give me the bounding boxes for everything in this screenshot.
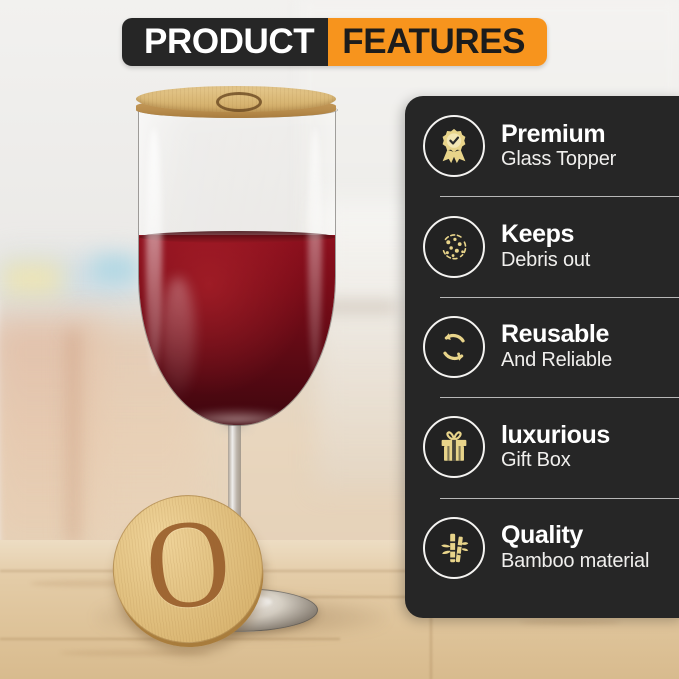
feature-text-quality: Quality Bamboo material <box>501 522 649 573</box>
wine-bottom-glow <box>167 407 307 423</box>
feature-text-premium: Premium Glass Topper <box>501 121 616 172</box>
wine-surface <box>139 231 335 243</box>
coaster-engraved-letter: O <box>140 499 234 632</box>
glass-bowl <box>138 106 336 426</box>
banner-orange-segment: FEATURES <box>328 18 547 66</box>
feature-title: Reusable <box>501 321 612 348</box>
feature-subtitle: Debris out <box>501 249 590 273</box>
bamboo-glass-topper <box>136 86 336 120</box>
banner-word-features: FEATURES <box>342 22 525 62</box>
feature-text-reusable: Reusable And Reliable <box>501 321 612 372</box>
banner-dark-segment: PRODUCT <box>122 18 328 66</box>
feature-row-quality: Quality Bamboo material <box>405 498 679 598</box>
glass-highlight-right <box>308 128 322 378</box>
background-blur-yellow <box>2 262 62 296</box>
feature-title: Keeps <box>501 221 590 248</box>
feature-row-luxurious: luxurious Gift Box <box>405 397 679 497</box>
wine-highlight <box>161 277 195 397</box>
feature-subtitle: And Reliable <box>501 349 612 373</box>
debris-particles-icon <box>423 216 485 278</box>
feature-subtitle: Glass Topper <box>501 148 616 172</box>
feature-title: Quality <box>501 522 649 549</box>
glass-highlight-left <box>146 128 162 378</box>
bamboo-topper-monogram-icon <box>216 92 262 112</box>
bamboo-coaster-monogram: O <box>107 489 272 654</box>
recycle-arrows-icon <box>423 316 485 378</box>
feature-row-reusable: Reusable And Reliable <box>405 297 679 397</box>
feature-row-keeps: Keeps Debris out <box>405 196 679 296</box>
bamboo-stalk-icon <box>423 517 485 579</box>
header-banner: PRODUCT FEATURES <box>122 18 547 66</box>
feature-subtitle: Gift Box <box>501 449 610 473</box>
product-feature-infographic: O PRODUCT FEATURES Premium <box>0 0 679 679</box>
feature-row-premium: Premium Glass Topper <box>405 96 679 196</box>
coaster-face: O <box>107 489 269 650</box>
background-cabinet-seam <box>68 330 78 544</box>
feature-subtitle: Bamboo material <box>501 550 649 574</box>
banner-word-product: PRODUCT <box>144 22 314 62</box>
feature-text-keeps: Keeps Debris out <box>501 221 590 272</box>
feature-title: Premium <box>501 121 616 148</box>
feature-text-luxurious: luxurious Gift Box <box>501 422 610 473</box>
table-grain <box>520 620 620 625</box>
features-panel: Premium Glass Topper <box>405 96 679 618</box>
gift-box-icon <box>423 416 485 478</box>
feature-title: luxurious <box>501 422 610 449</box>
award-ribbon-icon <box>423 115 485 177</box>
